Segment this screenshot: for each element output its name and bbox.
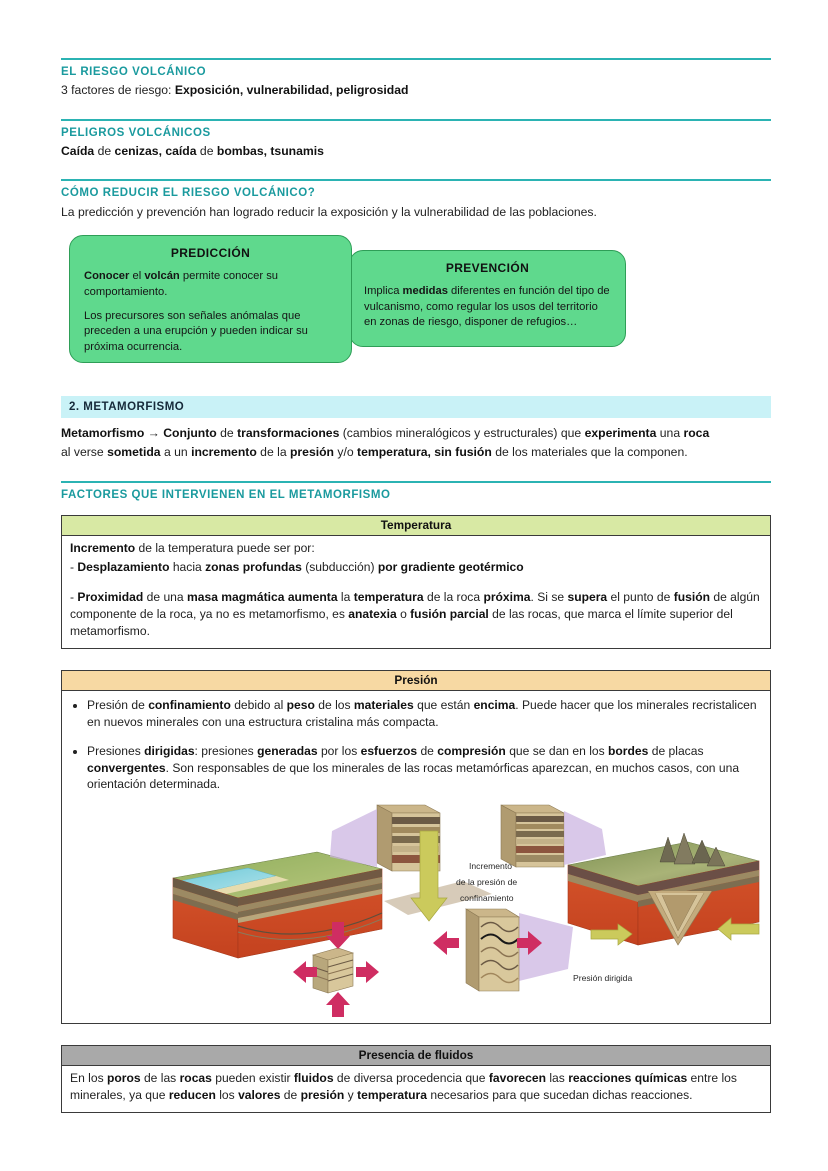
table-fluidos: Presencia de fluidos En los poros de las… [61,1045,771,1113]
text-run-8: las [546,1071,568,1085]
peligros-t1: de [94,144,114,158]
text-run-17: temperatura [357,1088,427,1102]
text-run-5: esfuerzos [361,744,417,758]
heading-factores: FACTORES QUE INTERVIENEN EN EL METAMORFI… [61,488,771,502]
text-run-1: Desplazamiento [77,560,169,574]
text-run-10: de placas [648,744,703,758]
text-run-0: Presiones [87,744,144,758]
text-run-12: . Son responsables de que los minerales … [87,761,739,792]
peligros-b2: cenizas, caída [115,144,197,158]
text-run-1: poros [107,1071,141,1085]
def-t1: de [217,426,237,440]
text-run-7: favorecen [489,1071,546,1085]
text-run-13: valores [238,1088,280,1102]
text-run-14: o [397,607,410,621]
heading-como-reducir: CÓMO REDUCIR EL RIESGO VOLCÁNICO? [61,186,771,200]
table-body-fluidos: En los poros de las rocas pueden existir… [62,1066,770,1112]
page-content: EL RIESGO VOLCÁNICO 3 factores de riesgo… [61,58,771,1113]
presion-bullet-1: Presión de confinamiento debido al peso … [87,697,762,731]
def-t2: (cambios mineralógicos y estructurales) … [339,426,584,440]
left-block-diagram [173,852,382,958]
fluidos-paragraph-1: En los poros de las rocas pueden existir… [70,1070,762,1104]
prevencion-paragraph-1: Implica medidas diferentes en función de… [364,284,611,330]
temperatura-paragraph-1: Incremento de la temperatura puede ser p… [70,540,762,557]
table-body-temperatura: Incremento de la temperatura puede ser p… [62,536,770,648]
text-run-2: hacia [169,560,205,574]
peligros-t2: de [197,144,217,158]
def2-t2: a un [161,445,192,459]
text-run-4: (subducción) [302,560,378,574]
text-run-6: que están [414,698,474,712]
text-run-9: reacciones químicas [568,1071,687,1085]
def2-b1: sometida [107,445,161,459]
folded-sample-column [466,909,519,991]
heading-riesgo-volcanico: EL RIESGO VOLCÁNICO [61,65,771,79]
spacer-3 [61,370,771,396]
text-run-10: el punto de [607,590,674,604]
prevencion-b1: medidas [403,285,448,297]
text-run-1: Proximidad [77,590,143,604]
text-run-1: dirigidas [144,744,194,758]
text-factores-riesgo: 3 factores de riesgo: Exposición, vulner… [61,82,771,99]
text-run-15: presión [301,1088,345,1102]
text-run-2: debido al [231,698,287,712]
text-run-11: reducen [169,1088,216,1102]
prevencion-t1: Implica [364,285,403,297]
presion-bullet-list: Presión de confinamiento debido al peso … [70,697,762,794]
heading-peligros-volcanicos: PELIGROS VOLCÁNICOS [61,126,771,140]
text-run-6: de la roca [424,590,484,604]
text-run-16: y [344,1088,357,1102]
figure-label-increment-line3: confinamiento [460,893,514,903]
text-run-3: rocas [180,1071,212,1085]
text-run-2: de las [141,1071,180,1085]
table-temperatura: Temperatura Incremento de la temperatura… [61,515,771,649]
def-t3: una [656,426,683,440]
table-body-presion: Presión de confinamiento debido al peso … [62,691,770,1024]
text-run-1: de la temperatura puede ser por: [135,541,315,555]
text-run-5: por gradiente geotérmico [378,560,524,574]
text-run-3: generadas [257,744,318,758]
text-run-13: anatexia [348,607,396,621]
text-run-0: Incremento [70,541,135,555]
text-run-3: masa magmática aumenta [187,590,338,604]
spacer-2 [61,162,771,179]
prediccion-t1: el [129,270,144,282]
text-run-5: materiales [354,698,414,712]
figure-presion-diagram: Incremento de la presión de confinamient… [70,795,762,1017]
def2-t1: al verse [61,445,107,459]
text-run-2: : presiones [195,744,258,758]
divider-rule-2 [61,119,771,121]
def2-t3: de la [257,445,290,459]
document-page: EL RIESGO VOLCÁNICO 3 factores de riesgo… [0,0,828,1171]
factores-riesgo-plain: 3 factores de riesgo: [61,83,175,97]
text-run-15: fusión parcial [410,607,489,621]
peligros-b3: bombas, tsunamis [217,144,324,158]
table-presion: Presión Presión de confinamiento debido … [61,670,771,1025]
sample-cube-undeformed [313,948,353,993]
prevencion-box: PREVENCIÓN Implica medidas diferentes en… [349,250,626,347]
text-run-18: necesarios para que sucedan dichas reacc… [427,1088,693,1102]
text-run-1: confinamiento [148,698,231,712]
text-run-6: de [417,744,437,758]
pressure-diagram-svg: Incremento de la presión de confinamient… [70,795,780,1017]
text-metamorfismo-def-line-2: al verse sometida a un incremento de la … [61,444,771,461]
spacer-6 [61,505,771,515]
factores-riesgo-bold: Exposición, vulnerabilidad, peligrosidad [175,83,409,97]
temperatura-paragraph-2: - Desplazamiento hacia zonas profundas (… [70,559,762,576]
peligros-b1: Caída [61,144,94,158]
def2-b4: temperatura, sin fusión [357,445,492,459]
text-run-8: que se dan en los [506,744,608,758]
table-header-presion: Presión [62,671,770,691]
text-run-11: convergentes [87,761,166,775]
prediccion-paragraph-2: Los precursores son señales anómalas que… [84,309,337,355]
figure-label-increment-line2: de la presión de [456,877,517,887]
text-run-9: supera [567,590,607,604]
divider-rule-1 [61,58,771,60]
cube-after-compaction [501,805,564,867]
text-run-12: los [216,1088,238,1102]
prediccion-prevencion-group: PREDICCIÓN Conocer el volcán permite con… [61,230,771,370]
prediccion-paragraph-1: Conocer el volcán permite conocer su com… [84,269,337,300]
def2-b3: presión [290,445,334,459]
text-run-8: . Si se [531,590,568,604]
text-metamorfismo-def-line-1: Metamorfismo → Conjunto de transformacio… [61,425,771,442]
text-run-4: por los [318,744,361,758]
prediccion-title: PREDICCIÓN [84,246,337,260]
text-run-7: encima [474,698,516,712]
text-run-3: zonas profundas [205,560,302,574]
prediccion-box: PREDICCIÓN Conocer el volcán permite con… [69,235,352,363]
text-run-5: temperatura [354,590,424,604]
text-run-7: próxima [483,590,530,604]
table-header-fluidos: Presencia de fluidos [62,1046,770,1066]
spacer-1 [61,102,771,119]
text-run-4: pueden existir [212,1071,294,1085]
def-b4: roca [683,426,709,440]
temperatura-paragraph-3: - Proximidad de una masa magmática aumen… [70,589,762,640]
text-run-7: compresión [437,744,506,758]
figure-label-increment-line1: Incremento [469,861,512,871]
def2-t4: y/o [334,445,357,459]
text-peligros-list: Caída de cenizas, caída de bombas, tsuna… [61,143,771,160]
text-run-4: la [338,590,354,604]
presion-bullet-2: Presiones dirigidas: presiones generadas… [87,743,762,794]
text-como-reducir-intro: La predicción y prevención han logrado r… [61,204,771,221]
prediccion-b2: volcán [144,270,179,282]
def-b3: experimenta [585,426,657,440]
table-header-temperatura: Temperatura [62,516,770,536]
def-b2: transformaciones [237,426,339,440]
text-run-3: peso [287,698,315,712]
spacer-4 [61,418,771,425]
figure-label-directed-pressure: Presión dirigida [573,973,632,983]
divider-rule-4 [61,481,771,483]
spacer-5 [61,464,771,481]
spacer-8 [61,1024,771,1045]
prevencion-title: PREVENCIÓN [364,261,611,275]
prediccion-b1: Conocer [84,270,129,282]
text-run-0: Presión de [87,698,148,712]
def2-t5: de los materiales que la componen. [492,445,688,459]
def2-b2: incremento [191,445,257,459]
divider-rule-3 [61,179,771,181]
text-run-5: fluidos [294,1071,334,1085]
def-b1: Metamorfismo → Conjunto [61,426,217,440]
text-run-9: bordes [608,744,648,758]
text-run-14: de [280,1088,300,1102]
text-run-4: de los [315,698,354,712]
text-run-6: de diversa procedencia que [334,1071,489,1085]
text-run-0: En los [70,1071,107,1085]
section-band-metamorfismo: 2. METAMORFISMO [61,396,771,418]
text-run-11: fusión [674,590,710,604]
spacer-7 [61,649,771,670]
text-run-2: de una [143,590,187,604]
